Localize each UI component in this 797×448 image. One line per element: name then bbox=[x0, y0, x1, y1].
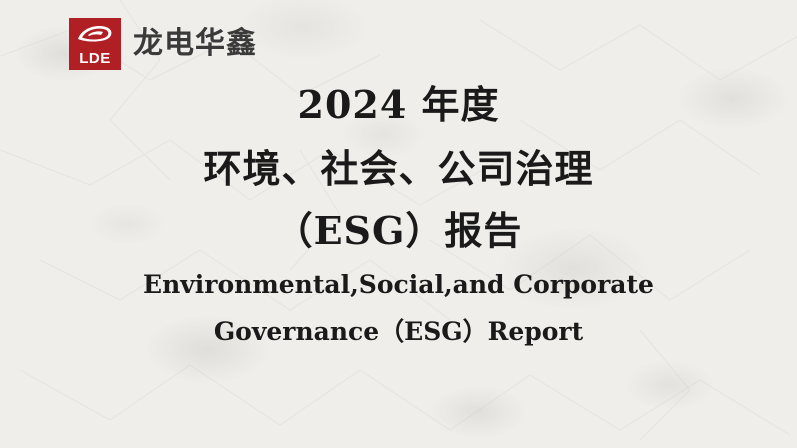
title-area: 2024 年度 环境、社会、公司治理 （ESG）报告 Environmental… bbox=[0, 86, 797, 366]
page-subtitle-line-1: Environmental,Social,and Corporate bbox=[0, 272, 797, 297]
page-title-line-3: （ESG）报告 bbox=[0, 212, 797, 250]
page-title-line-1: 2024 年度 bbox=[0, 86, 797, 124]
logo-mark-text: LDE bbox=[79, 51, 111, 66]
page-title-line-2: 环境、社会、公司治理 bbox=[0, 150, 797, 188]
company-logo: LDE 龙电华鑫 bbox=[69, 18, 257, 70]
page-subtitle-line-2: Governance（ESG）Report bbox=[0, 319, 797, 344]
logo-mark: LDE bbox=[69, 18, 121, 70]
company-name: 龙电华鑫 bbox=[133, 29, 257, 59]
title-slide: LDE 龙电华鑫 2024 年度 环境、社会、公司治理 （ESG）报告 Envi… bbox=[0, 0, 797, 448]
lde-swoosh-icon bbox=[76, 24, 114, 43]
